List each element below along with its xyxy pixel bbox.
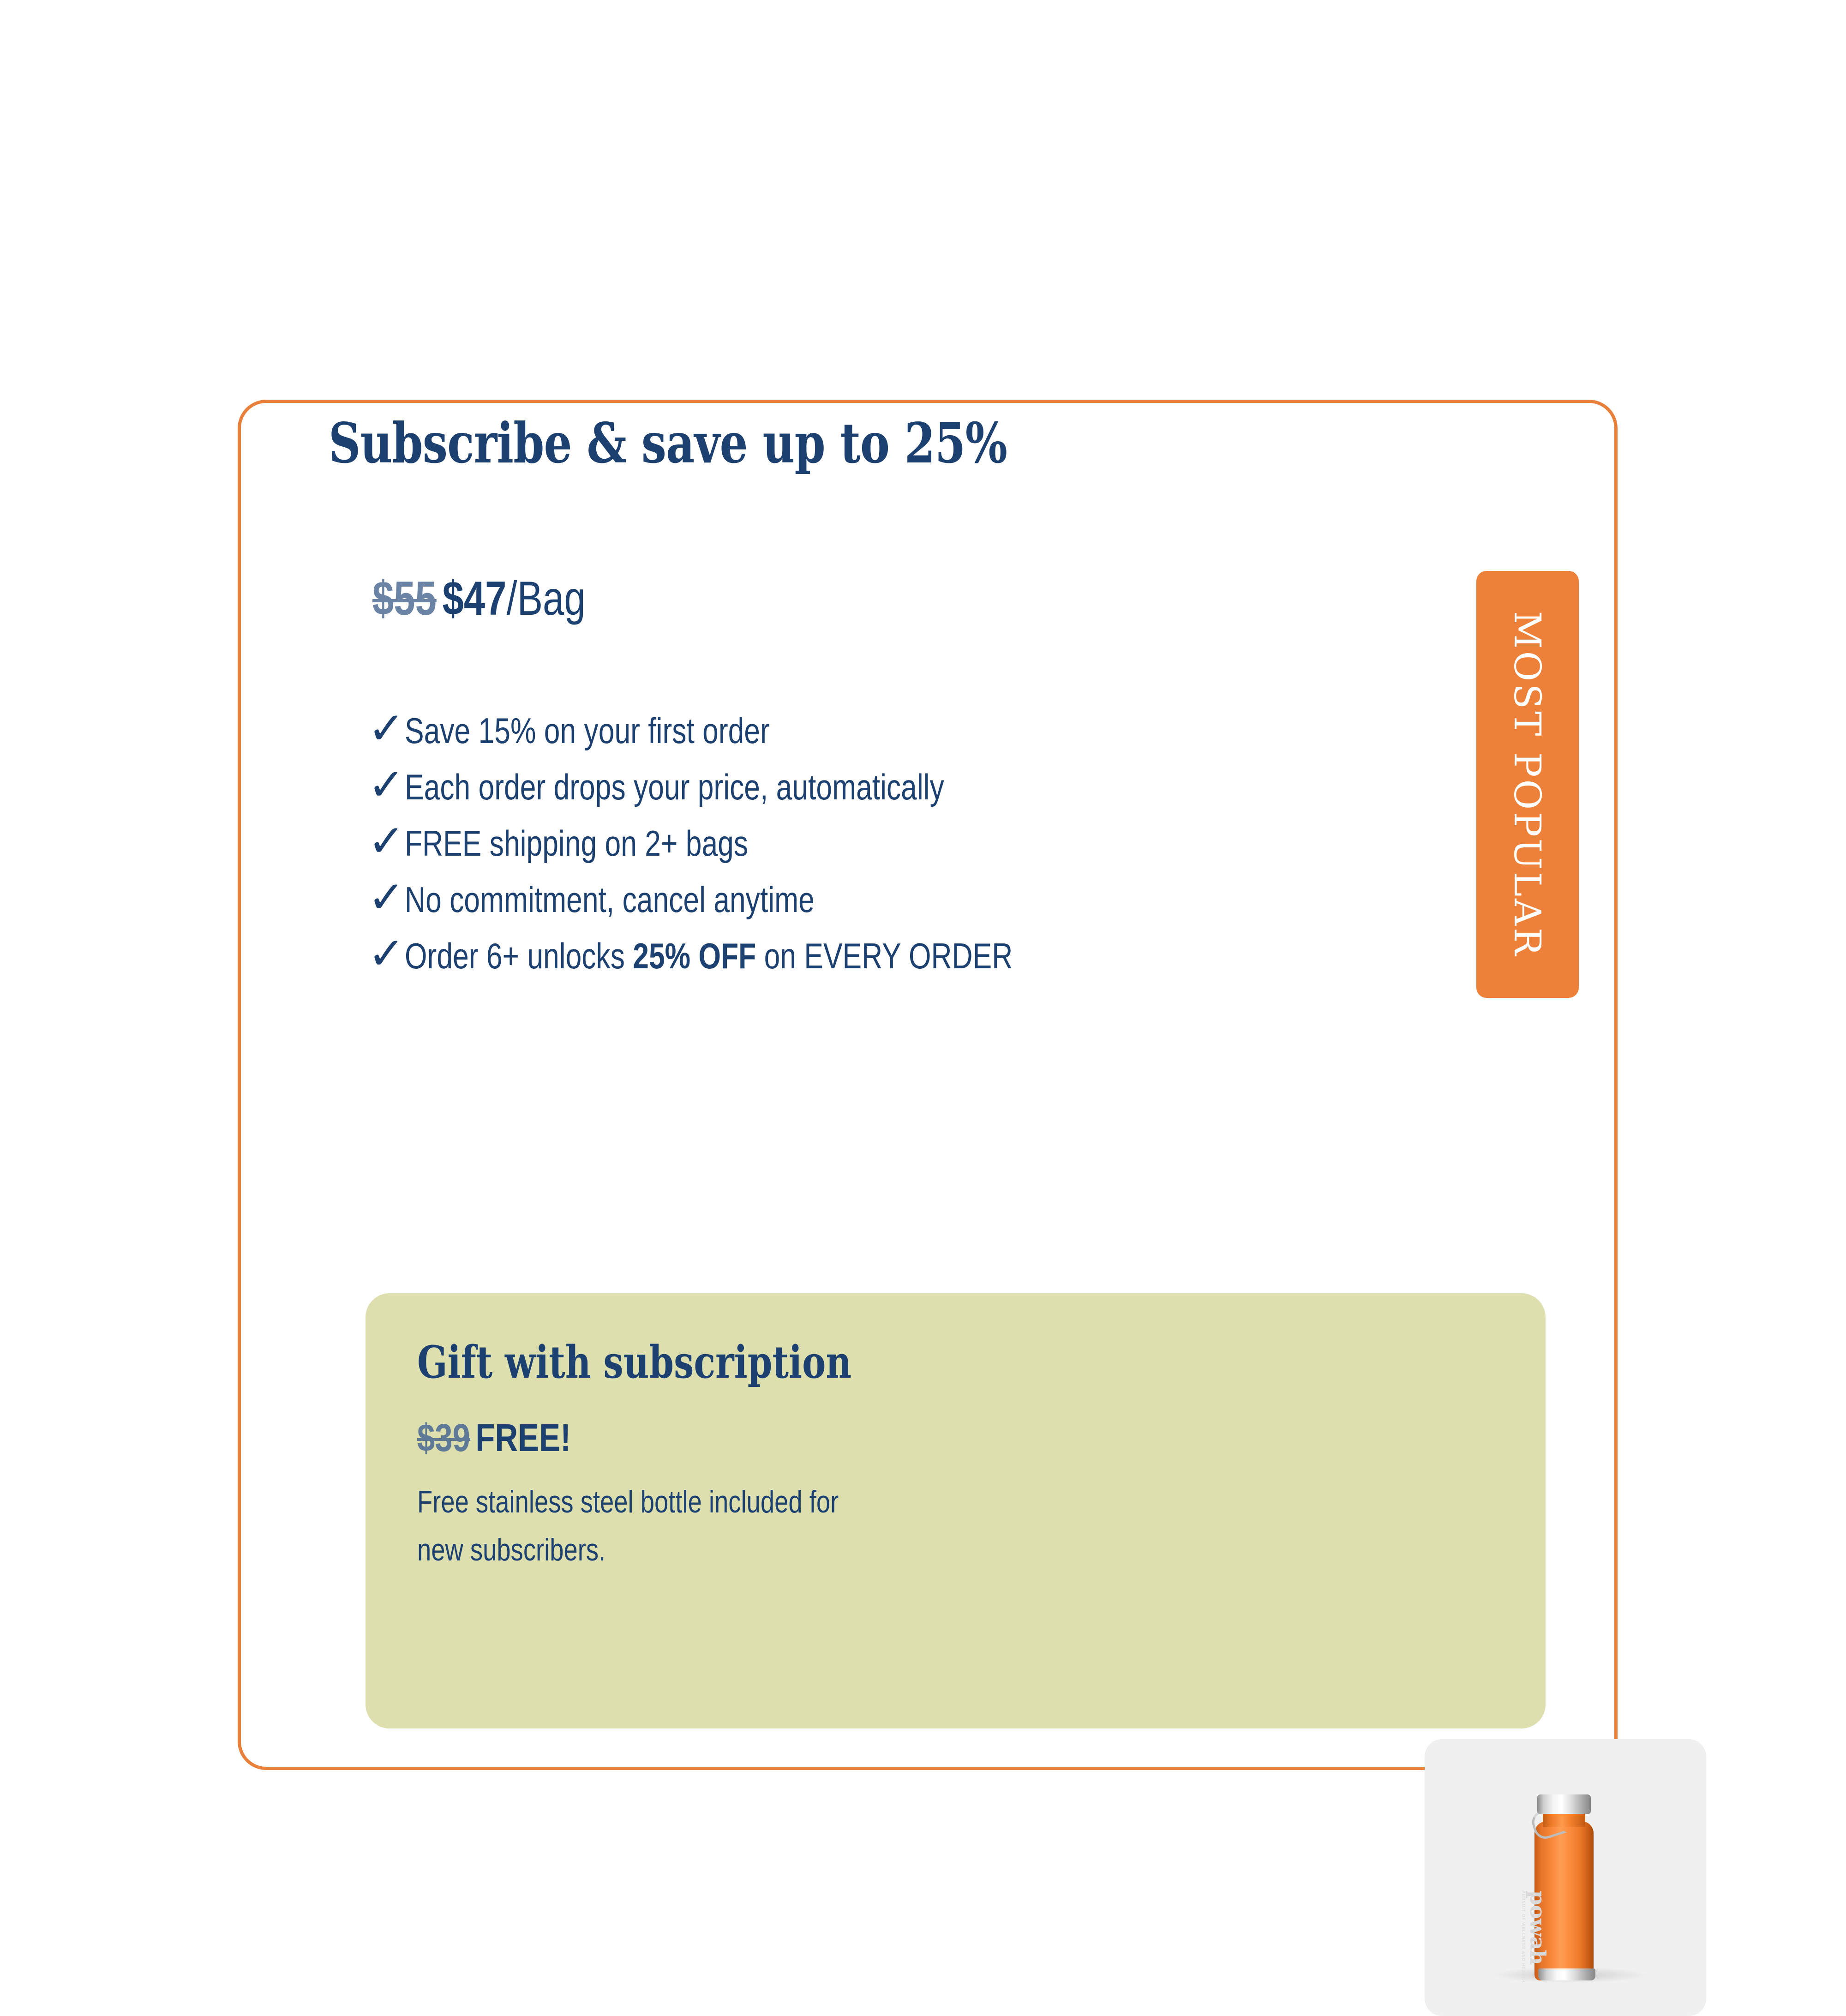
- water-bottle-icon: powah PURSUIT OF WELLNESS AND HEALTH: [1532, 1794, 1596, 1993]
- benefit-label: FREE shipping on 2+ bags: [405, 825, 748, 860]
- price-unit: /Bag: [506, 572, 585, 625]
- gift-original-price: $39: [417, 1416, 470, 1459]
- list-item: ✓ Save 15% on your first order: [368, 712, 1337, 768]
- subscription-offer-card[interactable]: Subscribe & save up to 25% $55$47/Bag ✓ …: [238, 400, 1618, 1770]
- benefit-label: Save 15% on your first order: [405, 712, 770, 747]
- gift-free-label: FREE!: [475, 1416, 571, 1459]
- most-popular-label: MOST POPULAR: [1506, 611, 1549, 958]
- page-title: Subscribe & save up to 25%: [329, 414, 1007, 473]
- gift-price-row: $39FREE!: [417, 1416, 571, 1460]
- product-image: powah PURSUIT OF WELLNESS AND HEALTH: [1425, 1739, 1706, 2016]
- price-row: $55$47/Bag: [372, 571, 586, 626]
- list-item: ✓ FREE shipping on 2+ bags: [368, 825, 1337, 881]
- product-image-tile: powah PURSUIT OF WELLNESS AND HEALTH: [1425, 1739, 1706, 2016]
- list-item: ✓ Order 6+ unlocks 25% OFF on EVERY ORDE…: [368, 937, 1337, 994]
- benefits-list: ✓ Save 15% on your first order ✓ Each or…: [368, 712, 1337, 994]
- check-icon: ✓: [368, 881, 405, 913]
- status-badge: MOST POPULAR: [1476, 571, 1579, 998]
- benefit-label: No commitment, cancel anytime: [405, 881, 815, 916]
- original-price: $55: [372, 572, 437, 625]
- brand-tagline: PURSUIT OF WELLNESS AND HEALTH: [1521, 1890, 1526, 1983]
- gift-with-subscription-panel: Gift with subscription $39FREE! Free sta…: [366, 1293, 1546, 1728]
- gift-description: Free stainless steel bottle included for…: [417, 1478, 886, 1574]
- check-icon: ✓: [368, 937, 405, 970]
- current-price: $47: [443, 572, 507, 625]
- bottle-body: powah PURSUIT OF WELLNESS AND HEALTH: [1534, 1821, 1594, 1980]
- benefit-label: Order 6+ unlocks 25% OFF on EVERY ORDER: [405, 937, 1013, 972]
- bottle-cap: [1537, 1794, 1591, 1814]
- bottle-base: [1538, 1968, 1595, 1980]
- benefit-label: Each order drops your price, automatical…: [405, 768, 944, 804]
- check-icon: ✓: [368, 712, 405, 744]
- list-item: ✓ Each order drops your price, automatic…: [368, 768, 1337, 825]
- check-icon: ✓: [368, 768, 405, 801]
- list-item: ✓ No commitment, cancel anytime: [368, 881, 1337, 937]
- check-icon: ✓: [368, 825, 405, 857]
- gift-title: Gift with subscription: [417, 1336, 851, 1388]
